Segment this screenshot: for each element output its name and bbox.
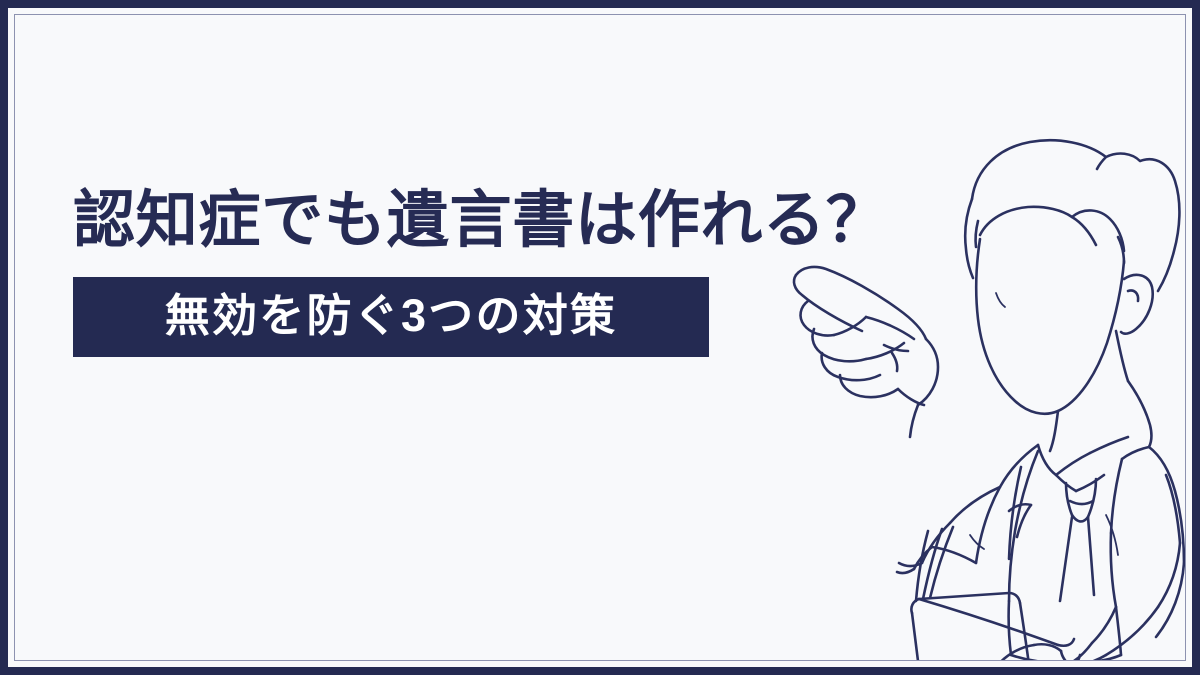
jacket-hem-icon xyxy=(1011,607,1121,660)
subtitle-text: 無効を防ぐ3つの対策 xyxy=(107,290,675,342)
text-block: 認知症でも遺言書は作れる？ 無効を防ぐ3つの対策 xyxy=(73,186,933,357)
neck-icon xyxy=(1050,331,1128,451)
head-icon xyxy=(976,239,1124,414)
shirt-collar-icon xyxy=(1038,381,1151,475)
document-folder-icon xyxy=(911,527,1074,660)
shading-detail-icon xyxy=(970,293,1118,555)
lower-hand-icon xyxy=(994,644,1081,660)
ear-icon xyxy=(1121,275,1153,334)
pointing-arm-icon xyxy=(897,487,1000,573)
hair-icon xyxy=(965,140,1179,291)
right-arm-icon xyxy=(1061,543,1184,660)
thumbnail-canvas: 認知症でも遺言書は作れる？ 無効を防ぐ3つの対策 xyxy=(0,0,1200,675)
necktie-icon xyxy=(1056,475,1104,601)
subtitle-banner: 無効を防ぐ3つの対策 xyxy=(73,277,709,357)
page-title: 認知症でも遺言書は作れる？ xyxy=(73,186,933,255)
suit-jacket-icon xyxy=(976,445,1184,655)
